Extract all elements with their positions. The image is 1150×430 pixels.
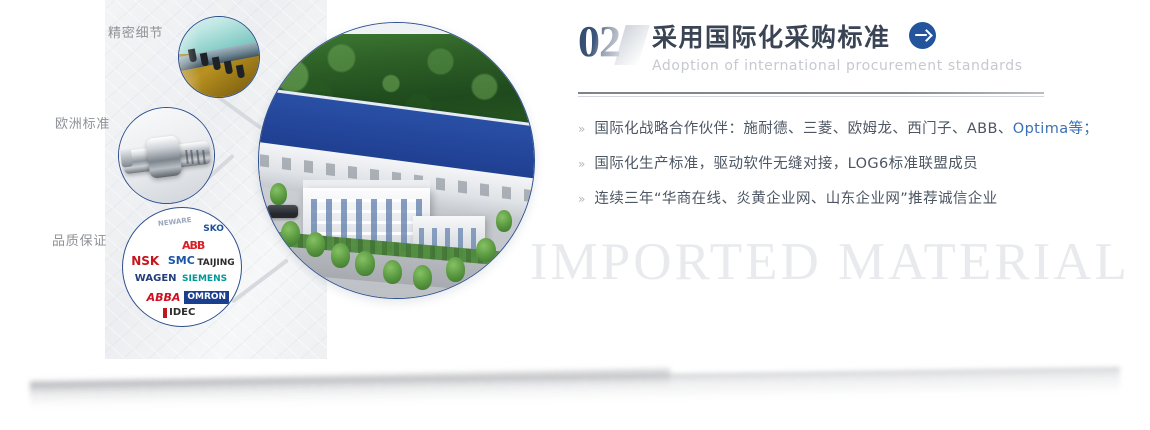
brand-logo-sko: SKO: [203, 225, 224, 234]
header-divider: [578, 92, 1044, 97]
content-column: 02 采用国际化采购标准 Adoption of international p…: [578, 20, 1078, 225]
bullet-text: 连续三年“华商在线、炎黄企业网、山东企业网”推荐诚信企业: [594, 190, 997, 209]
brand-logo-neware: NEWARE: [158, 217, 192, 228]
list-item: » 国际化战略合作伙伴：施耐德、三菱、欧姆龙、西门子、ABB、Optima等；: [578, 120, 1078, 139]
promo-banner: 精密细节 欧洲标准 品质保证 NEWARE SKO ABB NSK SMC TA…: [0, 0, 1150, 430]
bullet-text-highlight: Optima等；: [1013, 121, 1099, 137]
precision-detail-photo: [178, 16, 260, 98]
bullet-list: » 国际化战略合作伙伴：施耐德、三菱、欧姆龙、西门子、ABB、Optima等； …: [578, 120, 1078, 209]
bullet-text-main: 国际化战略合作伙伴：施耐德、三菱、欧姆龙、西门子、ABB、: [594, 121, 1012, 137]
label-european-standard: 欧洲标准: [55, 113, 110, 132]
label-quality-assurance: 品质保证: [52, 230, 107, 249]
brand-logo-idec: IDEC: [163, 308, 195, 318]
page-subtitle: Adoption of international procurement st…: [652, 58, 1023, 74]
section-header: 02 采用国际化采购标准 Adoption of international p…: [578, 20, 1078, 84]
list-item: » 连续三年“华商在线、炎黄企业网、山东企业网”推荐诚信企业: [578, 190, 1078, 209]
page-title: 采用国际化采购标准: [652, 18, 891, 54]
bullet-text: 国际化生产标准，驱动软件无缝对接，LOG6标准联盟成员: [594, 155, 978, 174]
arrow-right-circle-icon[interactable]: [909, 22, 936, 49]
brand-logo-abba: ABBA: [147, 292, 181, 303]
brand-logo-smc: SMC: [168, 255, 195, 266]
factory-building-photo: [258, 22, 535, 299]
brand-logo-omron: OMRON: [184, 291, 229, 304]
brand-logo-taijing: TAIJING: [197, 259, 234, 268]
bullet-text-main: 连续三年“华商在线、炎黄企业网、山东企业网”推荐诚信企业: [594, 191, 997, 207]
section-number: 02: [578, 20, 620, 64]
brand-logo-wagen: WAGEN: [135, 274, 177, 284]
bullet-text-main: 国际化生产标准，驱动软件无缝对接，LOG6标准联盟成员: [594, 156, 978, 172]
car-icon: [267, 205, 297, 219]
list-item: » 国际化生产标准，驱动软件无缝对接，LOG6标准联盟成员: [578, 155, 1078, 174]
watermark-text: IMPORTED MATERIAL: [530, 236, 1130, 289]
chevron-right-icon: »: [578, 120, 585, 139]
chevron-right-icon: »: [578, 155, 585, 174]
label-precision-detail: 精密细节: [108, 22, 163, 41]
chevron-right-icon: »: [578, 190, 585, 209]
bullet-text: 国际化战略合作伙伴：施耐德、三菱、欧姆龙、西门子、ABB、Optima等；: [594, 120, 1098, 139]
brand-logo-abb: ABB: [182, 240, 204, 251]
brand-logo-siemens: SIEMENS: [182, 275, 227, 284]
brand-logos-photo: NEWARE SKO ABB NSK SMC TAIJING WAGEN SIE…: [122, 207, 242, 327]
ball-screw-photo: [118, 107, 215, 204]
brand-logo-nsk: NSK: [131, 255, 159, 267]
